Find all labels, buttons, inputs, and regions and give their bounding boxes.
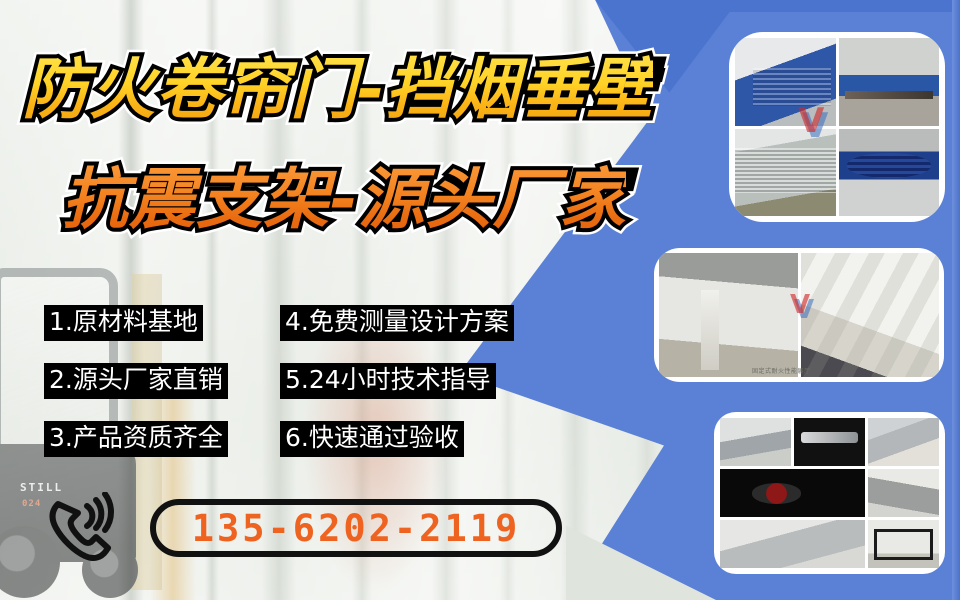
phone-number-text: 135-6202-2119 bbox=[192, 507, 521, 550]
feature-list: 1.原材料基地 4.免费测量设计方案 2.源头厂家直销 5.24小时技术指导 3… bbox=[44, 294, 564, 468]
headline-secondary: 抗震支架-源头厂家 抗震支架-源头厂家 抗震支架-源头厂家 bbox=[62, 146, 626, 242]
photo-pipe-clamp-assembly bbox=[868, 418, 939, 466]
watermark-logo-icon: V bbox=[790, 292, 810, 318]
blue-panel-right-edge bbox=[952, 0, 960, 600]
photo-steel-frame-support bbox=[868, 520, 939, 568]
headline-secondary-fill: 抗震支架-源头厂家 bbox=[62, 161, 626, 238]
photo-parking-garage bbox=[659, 253, 798, 377]
photo-lateral-pipe-brace bbox=[720, 418, 791, 466]
photo-production-machine bbox=[839, 38, 940, 126]
photo-fabric-fire-shutter bbox=[735, 129, 836, 217]
feature-item: 6.快速通过验收 bbox=[280, 421, 464, 458]
collage-seismic-bracing[interactable] bbox=[714, 412, 945, 574]
forklift-model-label: 024 bbox=[22, 500, 41, 509]
collage-fire-shutter-doors[interactable] bbox=[729, 32, 945, 222]
photo-caption: 固定式耐火性能展厅 bbox=[752, 366, 811, 375]
headline-primary-fill: 防火卷帘门-挡烟垂壁 bbox=[22, 51, 653, 128]
photo-ceiling-install bbox=[801, 253, 940, 377]
watermark-logo-icon: V bbox=[798, 104, 824, 138]
photo-duct-seismic-hanger bbox=[720, 520, 865, 568]
headline-primary: 防火卷帘门-挡烟垂壁 防火卷帘门-挡烟垂壁 防火卷帘门-挡烟垂壁 bbox=[22, 36, 653, 132]
feature-item: 4.免费测量设计方案 bbox=[280, 305, 514, 342]
feature-item: 3.产品资质齐全 bbox=[44, 421, 228, 458]
photo-fan-seismic-mount bbox=[720, 469, 865, 517]
photo-shutter-roll-assembly bbox=[839, 129, 940, 217]
phone-number-badge[interactable]: 135-6202-2119 bbox=[150, 499, 562, 557]
feature-item: 2.源头厂家直销 bbox=[44, 363, 228, 400]
photo-bidirectional-hanger bbox=[794, 418, 865, 466]
advertisement-banner: STILL 024 防火卷帘门-挡烟垂壁 防火卷帘门-挡烟垂壁 防火卷帘门-挡烟… bbox=[0, 0, 960, 600]
phone-ringing-icon bbox=[44, 492, 120, 564]
feature-item: 1.原材料基地 bbox=[44, 305, 203, 342]
feature-item: 5.24小时技术指导 bbox=[280, 363, 496, 400]
photo-ceiling-fan-brace bbox=[868, 469, 939, 517]
